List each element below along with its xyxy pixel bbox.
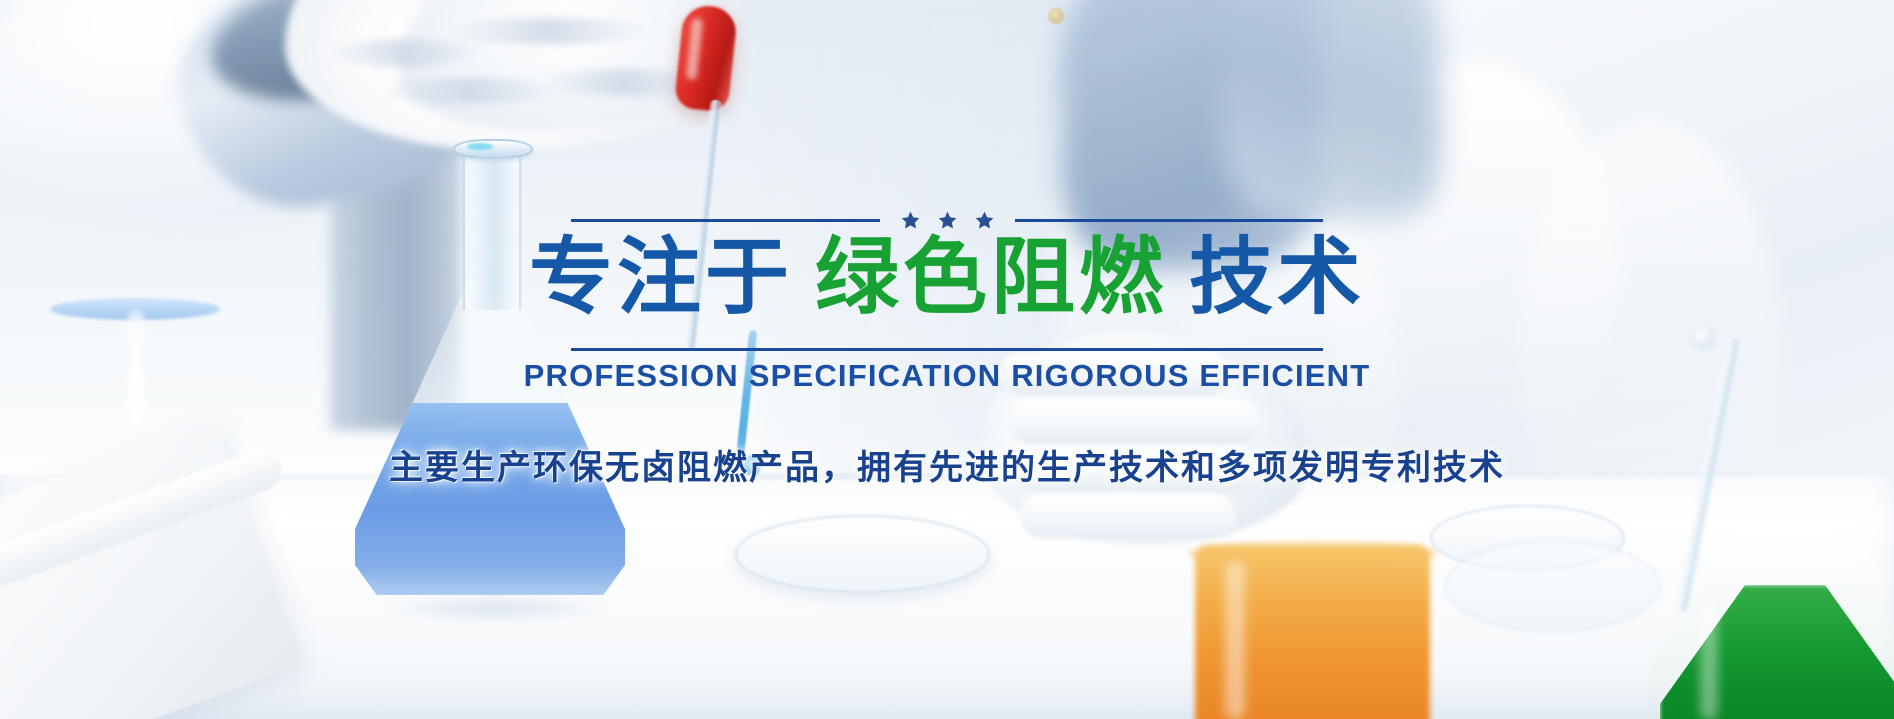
subtitle-english: PROFESSION SPECIFICATION RIGOROUS EFFICI… — [524, 358, 1371, 394]
hero-banner: 专注于绿色阻燃技术 PROFESSION SPECIFICATION RIGOR… — [0, 0, 1894, 719]
page-title: 专注于绿色阻燃技术 — [529, 232, 1365, 323]
headline-underline — [571, 348, 1323, 351]
headline-part-3: 技术 — [1189, 228, 1365, 326]
divider-line-right — [1015, 219, 1324, 222]
headline-part-1: 专注于 — [529, 228, 793, 326]
banner-content: 专注于绿色阻燃技术 PROFESSION SPECIFICATION RIGOR… — [0, 0, 1894, 719]
banner-description: 主要生产环保无卤阻燃产品，拥有先进的生产技术和多项发明专利技术 — [389, 440, 1505, 489]
divider-line-left — [571, 219, 880, 222]
headline-part-2: 绿色阻燃 — [815, 228, 1167, 326]
